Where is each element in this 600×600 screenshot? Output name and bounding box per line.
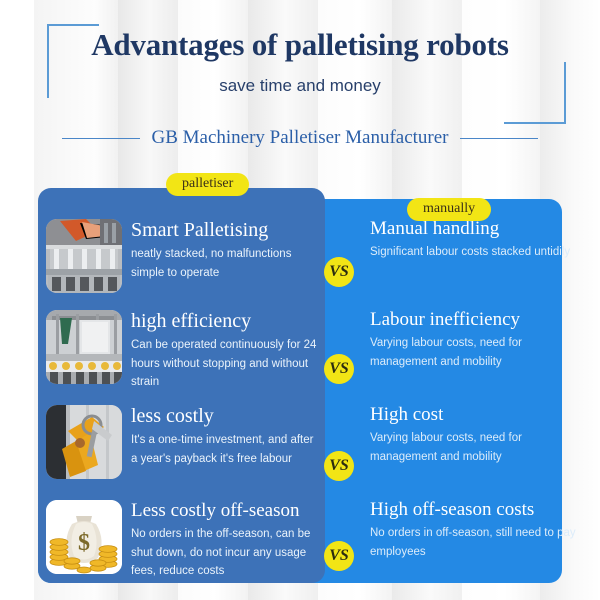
palletiser-column-label: palletiser bbox=[166, 173, 249, 196]
infographic-poster: Advantages of palletising robots save ti… bbox=[0, 0, 600, 600]
robot-arm-photo bbox=[46, 405, 122, 479]
manual-body: Varying labour costs, need for managemen… bbox=[370, 334, 580, 371]
palletiser-heading: Smart Palletising bbox=[131, 220, 318, 241]
manual-heading: High cost bbox=[370, 405, 580, 425]
palletiser-text: high efficiency Can be operated continuo… bbox=[131, 310, 318, 392]
vs-badge: VS bbox=[324, 354, 354, 384]
palletiser-text: Smart Palletising neatly stacked, no mal… bbox=[131, 219, 318, 282]
manual-heading: Labour inefficiency bbox=[370, 310, 580, 330]
svg-text:$: $ bbox=[78, 530, 90, 556]
brand-rule-left bbox=[62, 138, 140, 139]
palletiser-body: No orders in the off-season, can be shut… bbox=[131, 525, 318, 581]
poster-header: Advantages of palletising robots save ti… bbox=[0, 0, 600, 176]
manual-column-label: manually bbox=[407, 198, 491, 221]
comparison-rows: Smart Palletising neatly stacked, no mal… bbox=[0, 176, 600, 600]
comparison-row: less costly It's a one-time investment, … bbox=[0, 405, 600, 500]
palletiser-heading: Less costly off-season bbox=[131, 501, 318, 521]
palletiser-body: Can be operated continuously for 24 hour… bbox=[131, 336, 318, 392]
manual-body: Significant labour costs stacked untidil… bbox=[370, 243, 580, 262]
comparison-row: $ bbox=[0, 500, 600, 595]
manual-heading: High off-season costs bbox=[370, 500, 580, 520]
vs-badge: VS bbox=[324, 541, 354, 571]
palletiser-cell: less costly It's a one-time investment, … bbox=[46, 405, 318, 479]
brand-name: GB Machinery Palletiser Manufacturer bbox=[151, 127, 448, 149]
manual-cell: Manual handling Significant labour costs… bbox=[370, 219, 580, 262]
vs-badge: VS bbox=[324, 451, 354, 481]
palletiser-text: Less costly off-season No orders in the … bbox=[131, 500, 318, 581]
brand-line: GB Machinery Palletiser Manufacturer bbox=[0, 127, 600, 149]
palletiser-cell: Smart Palletising neatly stacked, no mal… bbox=[46, 219, 318, 293]
manual-body: No orders in off-season, still need to p… bbox=[370, 524, 580, 561]
palletising-robot-photo bbox=[46, 219, 122, 293]
conveyor-line-photo bbox=[46, 310, 122, 384]
manual-cell: High off-season costs No orders in off-s… bbox=[370, 500, 580, 561]
page-title: Advantages of palletising robots bbox=[0, 27, 600, 63]
palletiser-heading: high efficiency bbox=[131, 311, 318, 332]
comparison-row: Smart Palletising neatly stacked, no mal… bbox=[0, 219, 600, 310]
palletiser-cell: high efficiency Can be operated continuo… bbox=[46, 310, 318, 392]
palletiser-heading: less costly bbox=[131, 406, 318, 427]
palletiser-cell: $ bbox=[46, 500, 318, 581]
comparison-board: palletiser manually bbox=[0, 176, 600, 600]
manual-body: Varying labour costs, need for managemen… bbox=[370, 429, 580, 466]
palletiser-text: less costly It's a one-time investment, … bbox=[131, 405, 318, 468]
palletiser-body: It's a one-time investment, and after a … bbox=[131, 431, 318, 468]
brand-rule-right bbox=[460, 138, 538, 139]
manual-cell: High cost Varying labour costs, need for… bbox=[370, 405, 580, 466]
manual-cell: Labour inefficiency Varying labour costs… bbox=[370, 310, 580, 371]
manual-heading: Manual handling bbox=[370, 219, 580, 239]
money-bag-coins-photo: $ bbox=[46, 500, 122, 574]
palletiser-body: neatly stacked, no malfunctions simple t… bbox=[131, 245, 318, 282]
page-subtitle: save time and money bbox=[0, 76, 600, 96]
comparison-row: high efficiency Can be operated continuo… bbox=[0, 310, 600, 405]
vs-badge: VS bbox=[324, 257, 354, 287]
